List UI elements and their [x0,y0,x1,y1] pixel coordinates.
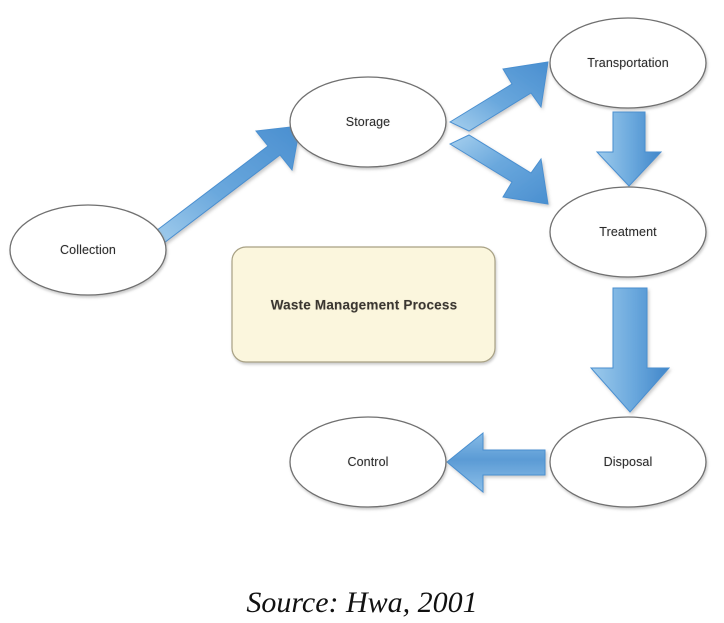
waste-management-diagram: Collection Storage Transportation Treatm… [0,0,724,623]
node-label-disposal: Disposal [604,455,653,469]
node-label-treatment: Treatment [599,225,656,239]
arrow-collection-to-storage [148,126,300,246]
node-label-collection: Collection [60,243,116,257]
arrow-disposal-to-control [447,433,545,492]
arrow-transportation-to-treatment [597,112,661,186]
node-label-control: Control [348,455,389,469]
arrow-storage-to-transportation [450,62,548,131]
source-caption: Source: Hwa, 2001 [0,586,724,620]
process-box-label: Waste Management Process [271,298,458,313]
arrow-storage-to-treatment [450,135,548,204]
node-label-transportation: Transportation [587,56,669,70]
arrow-treatment-to-disposal [591,288,669,412]
node-label-storage: Storage [346,115,390,129]
